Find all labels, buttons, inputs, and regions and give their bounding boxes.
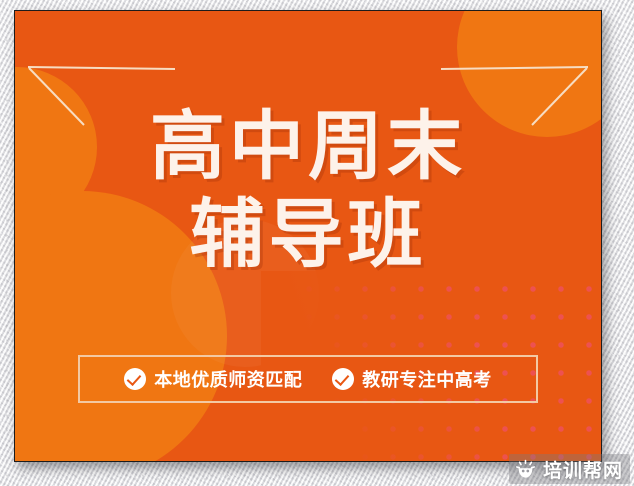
feature-highlight-box: 本地优质师资匹配 教研专注中高考: [78, 355, 538, 403]
headline-line-2: 辅导班: [15, 195, 601, 275]
watermark-label: 培训帮网: [543, 456, 623, 483]
poster-headline: 高中周末 辅导班: [15, 107, 601, 274]
feature-label-1: 本地优质师资匹配: [154, 366, 302, 392]
sun-face-icon: [515, 459, 536, 480]
photo-canvas: 高中周末 辅导班 本地优质师资匹配 教研专注中高考: [0, 0, 634, 486]
check-circle-icon: [124, 368, 146, 390]
feature-item-2: 教研专注中高考: [332, 366, 492, 392]
feature-label-2: 教研专注中高考: [362, 366, 492, 392]
poster-card: 高中周末 辅导班 本地优质师资匹配 教研专注中高考: [15, 11, 601, 461]
site-watermark: 培训帮网: [509, 454, 630, 484]
check-circle-icon: [332, 368, 354, 390]
headline-line-1: 高中周末: [15, 107, 601, 187]
feature-item-1: 本地优质师资匹配: [124, 366, 302, 392]
